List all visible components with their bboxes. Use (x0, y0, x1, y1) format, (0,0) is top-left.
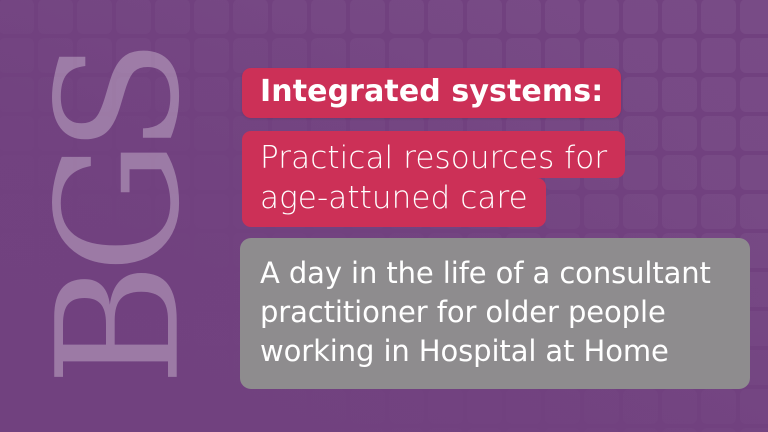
grid-tile (0, 38, 34, 73)
grid-tile (389, 0, 424, 34)
grid-tile (389, 428, 424, 432)
grid-tile (506, 0, 541, 34)
grid-tile (38, 77, 73, 112)
grid-tile (155, 389, 190, 424)
grid-tile (662, 428, 697, 432)
grid-tile (155, 155, 190, 190)
grid-tile (38, 389, 73, 424)
grid-tile (38, 0, 73, 34)
grid-tile (38, 311, 73, 346)
grid-tile (194, 116, 229, 151)
grid-tile (467, 0, 502, 34)
grid-tile (584, 389, 619, 424)
grid-tile (77, 311, 112, 346)
grid-tile (311, 0, 346, 34)
grid-tile (740, 194, 768, 229)
grid-tile (623, 0, 658, 34)
grid-tile (662, 38, 697, 73)
grid-tile (77, 389, 112, 424)
grid-tile (194, 311, 229, 346)
grid-tile (38, 38, 73, 73)
grid-tile (155, 428, 190, 432)
grid-tile (0, 233, 34, 268)
grid-tile (0, 389, 34, 424)
grid-tile (662, 194, 697, 229)
grid-tile (662, 155, 697, 190)
grid-tile (194, 0, 229, 34)
grid-tile (38, 233, 73, 268)
grid-tile (233, 389, 268, 424)
grid-tile (116, 77, 151, 112)
grid-tile (701, 77, 736, 112)
grid-tile (194, 38, 229, 73)
grid-tile (740, 389, 768, 424)
grid-tile (428, 0, 463, 34)
grid-tile (38, 194, 73, 229)
grid-tile (116, 38, 151, 73)
grid-tile (350, 428, 385, 432)
grid-tile (0, 155, 34, 190)
grid-tile (311, 389, 346, 424)
grid-tile (155, 38, 190, 73)
grid-tile (77, 77, 112, 112)
grid-tile (389, 389, 424, 424)
main-title-line-3: working in Hospital at Home (260, 332, 730, 371)
grid-tile (545, 0, 580, 34)
grid-tile (116, 233, 151, 268)
grid-tile (545, 389, 580, 424)
main-title-line-1: A day in the life of a consultant (260, 254, 730, 293)
grid-tile (350, 389, 385, 424)
grid-tile (740, 155, 768, 190)
grid-tile (740, 38, 768, 73)
grid-tile (77, 428, 112, 432)
grid-tile (623, 38, 658, 73)
grid-tile (701, 38, 736, 73)
grid-tile (662, 0, 697, 34)
grid-tile (740, 0, 768, 34)
grid-tile (194, 389, 229, 424)
grid-tile (116, 428, 151, 432)
grid-tile (116, 389, 151, 424)
grid-tile (155, 233, 190, 268)
grid-tile (77, 116, 112, 151)
grid-tile (233, 428, 268, 432)
grid-tile (506, 389, 541, 424)
grid-tile (467, 428, 502, 432)
grid-tile (545, 428, 580, 432)
grid-tile (38, 350, 73, 385)
slide-canvas: BGS Integrated systems: Practical resour… (0, 0, 768, 432)
grid-tile (116, 272, 151, 307)
grid-tile (0, 116, 34, 151)
grid-tile (740, 77, 768, 112)
grid-tile (701, 389, 736, 424)
grid-tile (77, 272, 112, 307)
grid-tile (272, 428, 307, 432)
series-title-text: Integrated systems: (260, 75, 603, 109)
grid-tile (623, 194, 658, 229)
grid-tile (0, 0, 34, 34)
grid-tile (467, 389, 502, 424)
grid-tile (740, 428, 768, 432)
grid-tile (623, 389, 658, 424)
grid-tile (77, 350, 112, 385)
main-title-line-2: practitioner for older people (260, 293, 730, 332)
grid-tile (701, 155, 736, 190)
grid-tile (662, 77, 697, 112)
grid-tile (701, 116, 736, 151)
grid-tile (272, 0, 307, 34)
grid-tile (194, 233, 229, 268)
grid-tile (0, 272, 34, 307)
grid-tile (584, 0, 619, 34)
grid-tile (194, 194, 229, 229)
grid-tile (740, 116, 768, 151)
grid-tile (77, 233, 112, 268)
grid-tile (506, 428, 541, 432)
grid-tile (77, 0, 112, 34)
grid-tile (701, 0, 736, 34)
grid-tile (194, 77, 229, 112)
grid-tile (0, 350, 34, 385)
series-subtitle-banner: Practical resources for age-attuned care (242, 131, 622, 227)
grid-tile (116, 350, 151, 385)
series-subtitle-line-2: age-attuned care (242, 178, 546, 227)
grid-tile (155, 77, 190, 112)
grid-tile (623, 77, 658, 112)
grid-tile (0, 311, 34, 346)
grid-tile (701, 428, 736, 432)
grid-tile (116, 194, 151, 229)
grid-tile (0, 77, 34, 112)
grid-tile (116, 0, 151, 34)
grid-tile (155, 0, 190, 34)
grid-tile (194, 350, 229, 385)
series-title-banner: Integrated systems: (242, 68, 621, 118)
grid-tile (428, 389, 463, 424)
grid-tile (77, 155, 112, 190)
grid-tile (662, 389, 697, 424)
grid-tile (38, 272, 73, 307)
grid-tile (233, 0, 268, 34)
grid-tile (584, 428, 619, 432)
grid-tile (311, 428, 346, 432)
grid-tile (38, 428, 73, 432)
grid-tile (428, 428, 463, 432)
grid-tile (701, 194, 736, 229)
grid-tile (155, 311, 190, 346)
grid-tile (0, 428, 34, 432)
grid-tile (77, 194, 112, 229)
series-subtitle-line-1: Practical resources for (242, 131, 625, 178)
grid-tile (116, 155, 151, 190)
grid-tile (38, 155, 73, 190)
grid-tile (623, 116, 658, 151)
grid-tile (38, 116, 73, 151)
grid-tile (155, 116, 190, 151)
grid-tile (155, 272, 190, 307)
grid-tile (662, 116, 697, 151)
grid-tile (350, 0, 385, 34)
grid-tile (272, 389, 307, 424)
grid-tile (623, 155, 658, 190)
grid-tile (155, 350, 190, 385)
grid-tile (194, 272, 229, 307)
grid-tile (77, 38, 112, 73)
grid-tile (155, 194, 190, 229)
grid-tile (194, 428, 229, 432)
grid-tile (116, 116, 151, 151)
main-title-box: A day in the life of a consultant practi… (240, 238, 750, 389)
grid-tile (116, 311, 151, 346)
grid-tile (194, 155, 229, 190)
grid-tile (623, 428, 658, 432)
grid-tile (0, 194, 34, 229)
